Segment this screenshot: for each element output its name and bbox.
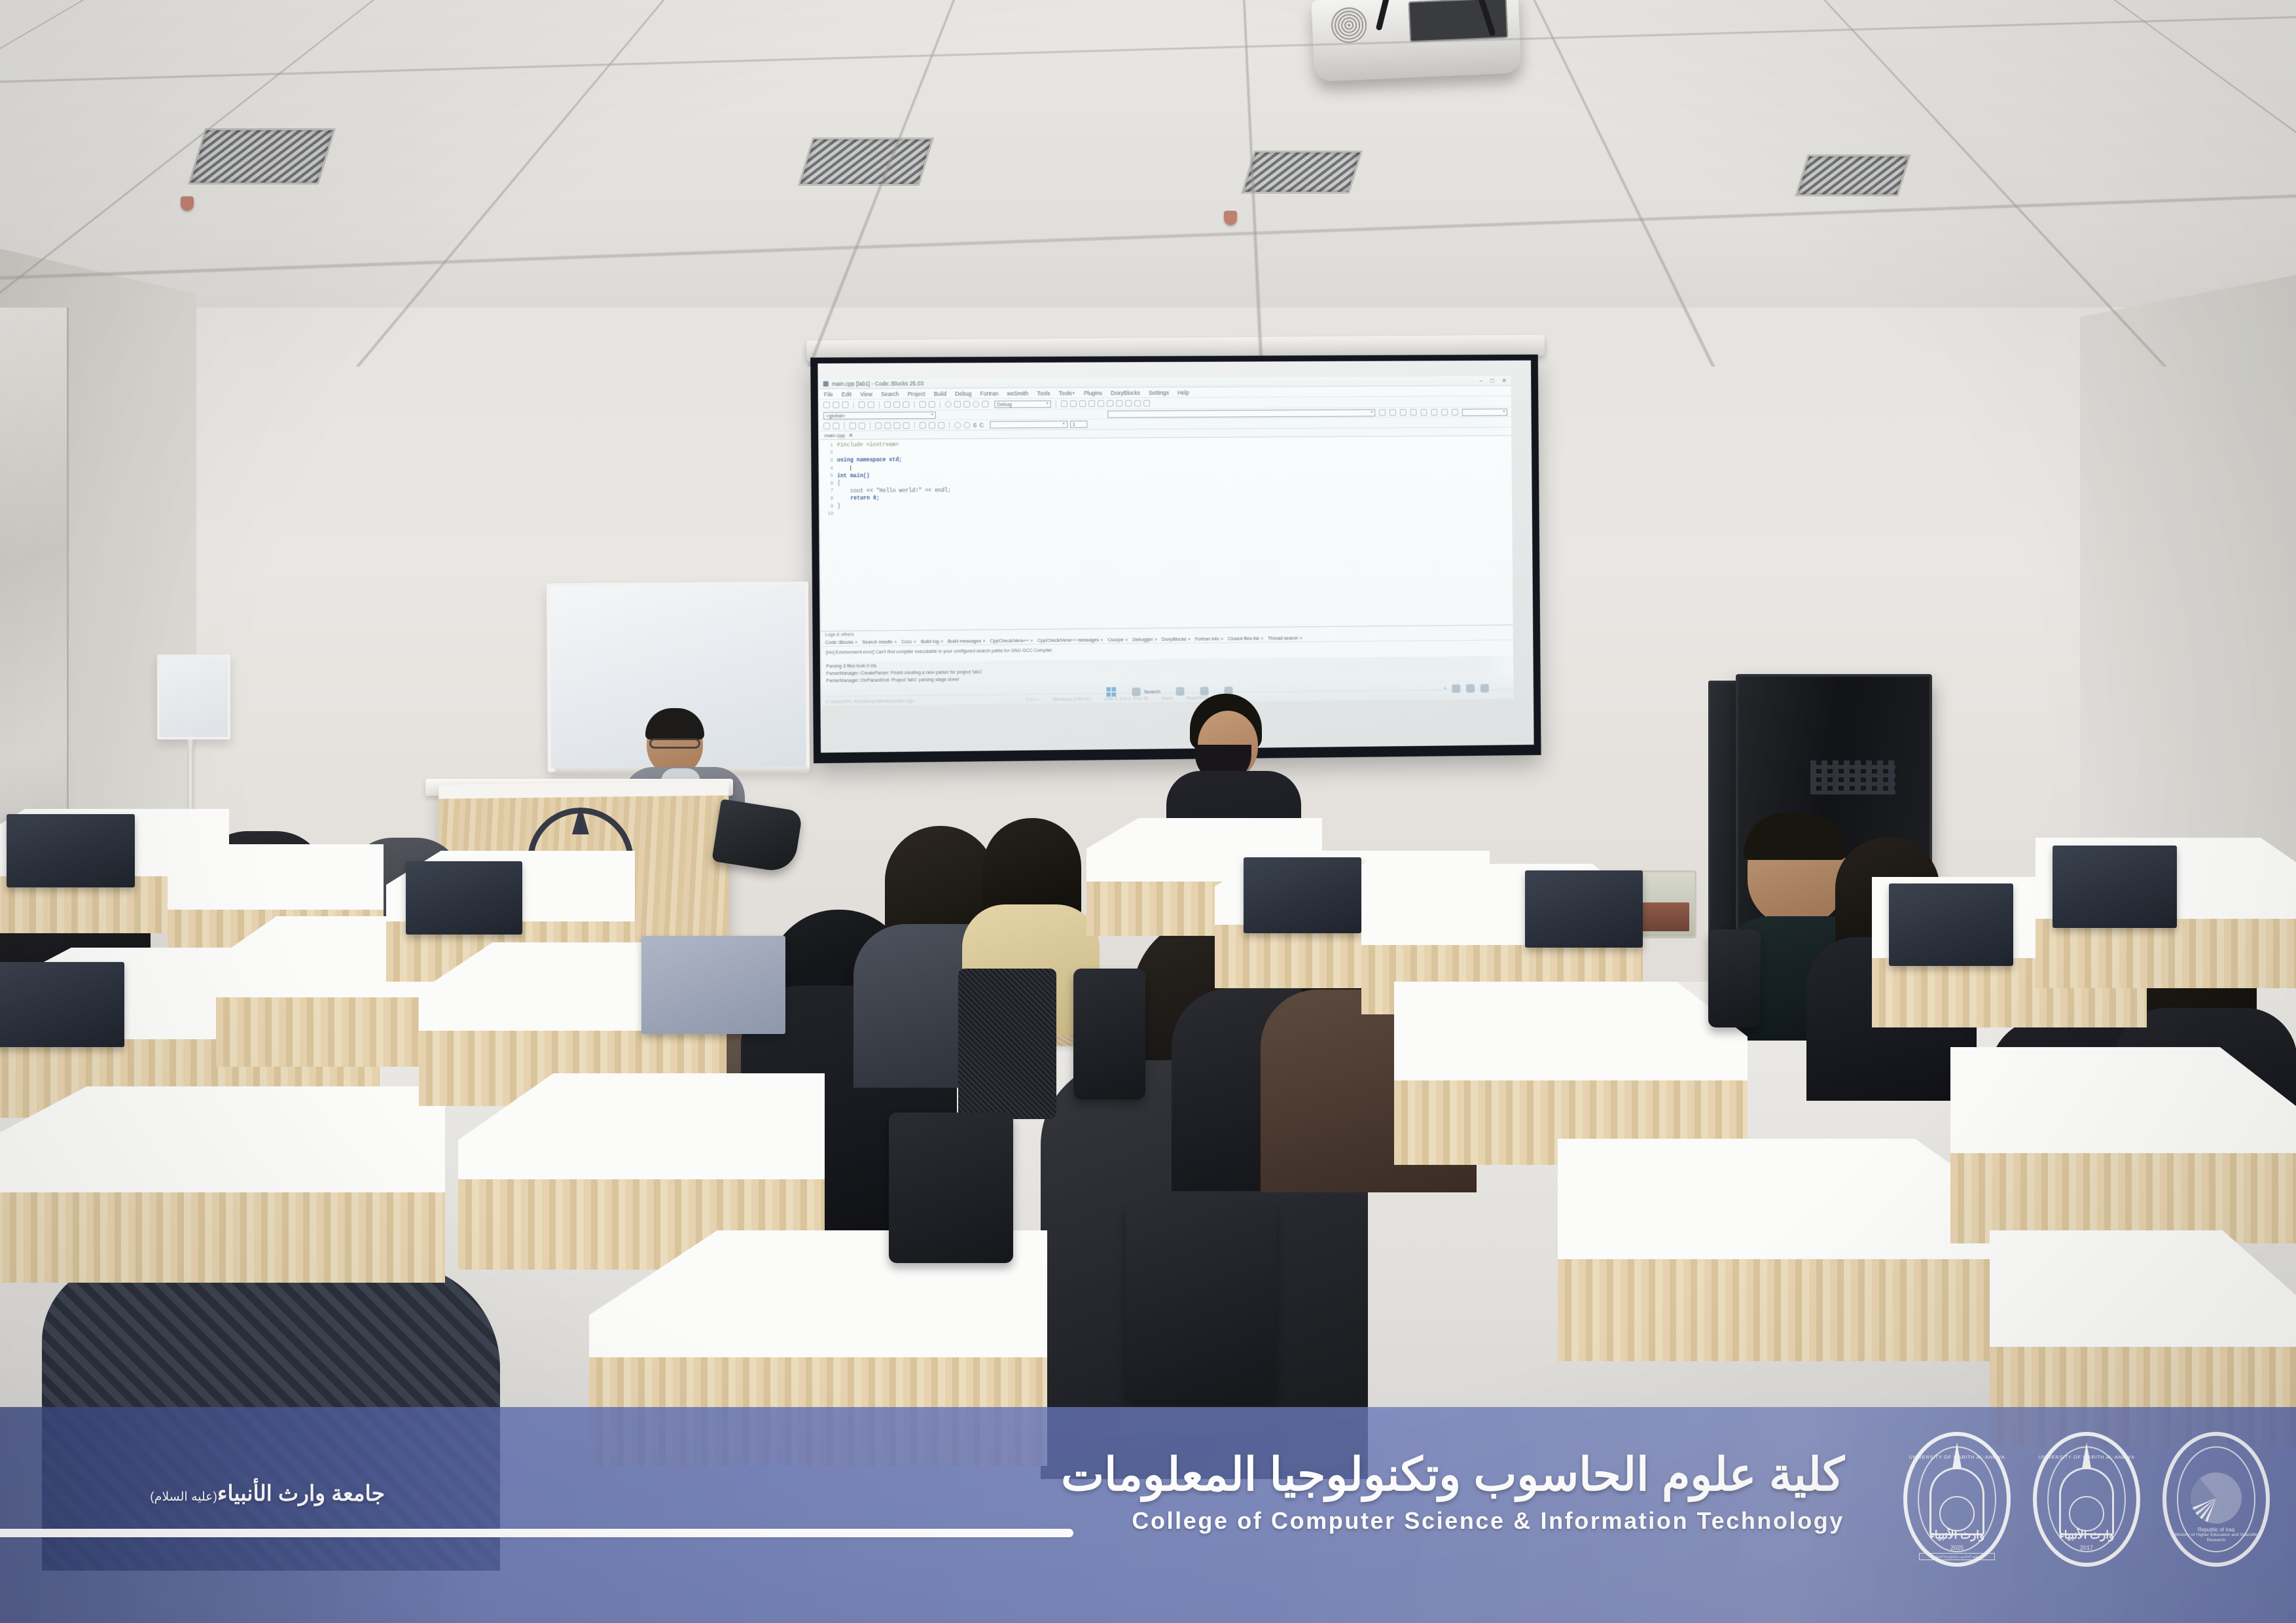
menu-item-edit[interactable]: Edit [842,391,852,397]
menu-item-debug[interactable]: Debug [955,390,972,397]
menu-item-search[interactable]: Search [881,391,899,397]
lab-desk-r3 [1558,1139,2016,1361]
function-select[interactable]: ▾ [1107,409,1375,418]
seal-2-year: 2017 [2037,1544,2136,1551]
window-controls[interactable]: – □ ✕ [1479,377,1507,384]
seal-1-ribbon: كلية علوم الحاسوب وتكنولوجيا المعلومات [1919,1553,1995,1560]
toolbar-separator-4 [940,401,941,408]
replace-icon[interactable] [929,401,935,408]
volume-icon[interactable] [1466,684,1475,692]
box-icon-3[interactable] [938,421,944,428]
nav-back-icon[interactable] [1379,409,1386,416]
line-number: 9 [820,504,837,509]
debug-step-into-icon[interactable] [1079,401,1086,407]
align-right-icon[interactable] [859,422,865,429]
log-tab[interactable]: Thread search✕ [1268,635,1303,641]
debug-windows-icon[interactable] [1134,400,1141,406]
ministry-country: Republic of Iraq [2166,1527,2266,1533]
podium-seal-nib-icon [572,808,589,834]
line-number: 3 [820,458,837,463]
windows-start-icon[interactable] [1106,687,1116,697]
hvac-vent-3 [1241,151,1363,194]
log-tab-label: Cscope [1107,637,1123,643]
paste-icon[interactable] [903,401,909,408]
log-tab-label: CppCheck/Vera++ messages [1037,637,1099,644]
code-text [837,465,851,472]
log-tab-close-icon[interactable]: ✕ [913,639,916,645]
build-and-run-icon[interactable] [963,401,970,408]
menu-item-settings[interactable]: Settings [1149,389,1169,396]
log-tab-label: Debugger [1132,637,1153,643]
log-tab[interactable]: CppCheck/Vera++✕ [990,637,1034,644]
seal-dome-icon [1939,1496,1975,1531]
line-number: 8 [820,496,837,501]
log-tab-close-icon[interactable]: ✕ [982,639,986,644]
toolbar2-separator-2 [870,422,870,429]
doxyblocks-s-icon[interactable]: S [973,421,977,428]
new-file-icon[interactable] [823,402,830,408]
chevron-up-icon[interactable]: ^ [1444,686,1446,692]
university-name-arabic: جامعة وارث الأنبياء(عليه السلام) [18,1480,385,1506]
log-tab-close-icon[interactable]: ✕ [1030,638,1033,643]
menu-item-build[interactable]: Build [934,390,946,397]
box-icon-1[interactable] [920,422,926,429]
clock-icon[interactable] [1480,684,1489,692]
office-chair-1 [958,969,1056,1119]
log-tab-label: Thread search [1268,635,1298,641]
debug-run-to-cursor-icon[interactable] [1107,400,1113,406]
code-text: return 0; [837,496,880,502]
line-number: 2 [819,450,836,455]
seal-1-base-arabic: وارث الأنبياء [1907,1529,2007,1542]
sprinkler-head [181,196,194,211]
college-name-arabic: كلية علوم الحاسوب وتكنولوجيا المعلومات [1061,1448,1844,1502]
log-tab-close-icon[interactable]: ✕ [855,639,858,645]
sprinkler-head-2 [1224,211,1237,225]
log-tab-label: Fortran info [1195,636,1219,642]
toolbar-separator-1 [853,401,853,408]
taskbar-search[interactable]: Search [1132,687,1160,696]
build-icon[interactable] [945,401,952,408]
align-left-icon[interactable] [850,422,856,429]
university-seal-main-icon: UNIVERSITY OF WARITH AL-ANBIYA وارث الأن… [2033,1432,2140,1567]
seal-1-year: 2025 [1907,1544,2007,1551]
log-tab-close-icon[interactable]: ✕ [941,639,944,644]
classroom-scene: main.cpp [lab1] - Code::Blocks 25.03 – □… [0,0,2296,1623]
zoom-level-value: 1 [1073,421,1075,428]
log-tab[interactable]: Build messages✕ [948,638,986,645]
bookmark-toggle-icon[interactable] [1400,409,1407,416]
log-tab-label: Closed files list [1228,635,1259,641]
rectangle-icon[interactable] [833,422,839,429]
build-target-value: Debug [997,401,1012,408]
ministry-name: Ministry of Higher Education and Scienti… [2170,1533,2262,1543]
find-icon[interactable] [919,401,925,408]
hvac-vent-1 [188,128,336,185]
debug-step-out-icon[interactable] [1088,401,1095,407]
box-icon-2[interactable] [929,422,935,429]
log-tab-label: Search results [862,639,892,645]
university-name-arabic-text: جامعة وارث الأنبياء [217,1481,385,1505]
text-caret [850,465,851,471]
log-tab[interactable]: Closed files list✕ [1228,635,1264,642]
bookmark-clear-icon[interactable] [1431,409,1438,416]
file-tab-close-icon[interactable]: ✕ [848,432,853,438]
ministry-sunburst-icon [2191,1472,2242,1524]
doxyblocks-c-icon[interactable]: C [979,421,984,428]
open-file-icon[interactable] [833,402,839,408]
save-icon[interactable] [842,402,848,408]
debug-info-icon[interactable] [1143,400,1150,406]
network-icon[interactable] [1452,685,1461,693]
toolbar-separator-3 [914,401,914,408]
log-tab-close-icon[interactable]: ✕ [1155,637,1158,642]
codeblocks-icon [823,382,829,387]
code-text: } [837,504,840,510]
lab-desk-r2 [1394,982,1748,1165]
log-tab[interactable]: Cccc✕ [901,639,917,645]
nav-forward-icon[interactable] [1390,409,1396,416]
abort-icon[interactable] [982,401,988,407]
log-tab[interactable]: Cscope✕ [1107,637,1128,643]
banner-divider [0,1529,1073,1537]
electrical-panel [1634,870,1696,938]
log-tab-close-icon[interactable]: ✕ [1125,637,1128,643]
run-icon[interactable] [954,401,961,408]
redo-icon[interactable] [868,401,874,408]
bookmark-prev-icon[interactable] [1410,409,1417,416]
monitor-r5 [2053,846,2177,928]
code-text: using namespace std; [837,457,902,464]
scope-value: <global> [826,412,846,419]
log-tab[interactable]: CppCheck/Vera++ messages✕ [1037,637,1103,643]
file-tab-main-cpp[interactable]: main.cpp [824,432,845,438]
line-number: 1 [819,443,836,448]
menu-item-tools-plus[interactable]: Tools+ [1058,389,1075,396]
toolbar2-separator-3 [914,421,915,429]
menu-item-plugins[interactable]: Plugins [1084,389,1102,396]
doxyblocks-select[interactable]: ▾ [990,421,1067,429]
speaker-hair [645,708,704,740]
snap-icon[interactable] [884,422,891,429]
log-tab-label: CppCheck/Vera++ [990,638,1029,645]
hvac-vent-4 [1795,154,1911,196]
university-honorific-arabic: (عليه السلام) [150,1490,217,1504]
bookmark-next-icon[interactable] [1421,409,1427,416]
institutional-seals: UNIVERSITY OF WARITH AL-ANBIYA وارث الأن… [1903,1432,2270,1567]
log-tab[interactable]: Fortran info✕ [1195,636,1224,642]
office-chair-4 [1126,1204,1276,1400]
zoom-level-select[interactable]: 1 [1070,421,1087,428]
line-number: 10 [820,512,837,517]
monitor-c6 [1244,857,1361,933]
ministry-seal-icon: Republic of Iraq Ministry of Higher Educ… [2162,1432,2270,1567]
hvac-vent-2 [798,137,935,186]
symbol-filter-select[interactable]: ▾ [1462,408,1507,416]
seal-1-ring-text: UNIVERSITY OF WARITH AL-ANBIYA [1909,1454,2005,1460]
log-tab-close-icon[interactable]: ✕ [1221,636,1224,641]
lab-desk-l5 [0,1086,445,1283]
layout-icon[interactable] [893,422,900,429]
toolbar-separator-2 [879,401,880,408]
monitor-c2 [641,936,785,1034]
fill-icon[interactable] [903,422,909,429]
monitor-c1 [406,861,522,935]
menu-item-project[interactable]: Project [908,390,925,397]
log-tab[interactable]: Build log✕ [921,639,944,645]
monitor-r1 [1525,870,1643,948]
side-whiteboard [157,654,230,740]
grid-icon[interactable] [875,422,882,429]
pointer-icon[interactable] [823,422,830,429]
menu-item-tools[interactable]: Tools [1037,389,1050,396]
seal-2-base-arabic: وارث الأنبياء [2037,1529,2136,1542]
debug-next-instruction-icon[interactable] [1098,401,1104,407]
maximize-icon[interactable]: □ [1490,377,1494,384]
debug-break-icon[interactable] [1116,400,1122,406]
log-tab[interactable]: Search results✕ [862,639,897,645]
line-number: 7 [820,489,837,494]
toolbar2-separator-1 [844,422,845,429]
menu-item-file[interactable]: File [824,391,833,397]
ide-window-title: main.cpp [lab1] - Code::Blocks 25.03 [832,380,924,387]
line-number: 4 [820,466,837,471]
debug-continue-icon[interactable] [1061,401,1067,407]
log-tab[interactable]: DoxyBlocks✕ [1162,636,1191,642]
log-tab[interactable]: Debugger✕ [1132,637,1158,643]
university-seal-college-icon: UNIVERSITY OF WARITH AL-ANBIYA وارث الأن… [1903,1432,2011,1567]
close-icon[interactable]: ✕ [1502,377,1508,384]
screenshot-root: main.cpp [lab1] - Code::Blocks 25.03 – □… [0,0,2296,1623]
code-text: #include <iostream> [837,442,899,449]
college-name-english: College of Computer Science & Informatio… [1061,1507,1844,1535]
menu-item-doxyblocks[interactable]: DoxyBlocks [1111,389,1140,396]
toolbar-separator-5 [1056,400,1056,407]
menu-item-view[interactable]: View [860,391,872,397]
scope-select[interactable]: <global>▾ [823,411,936,419]
log-tab-close-icon[interactable]: ✕ [1261,636,1264,641]
log-tab[interactable]: Code::Blocks✕ [825,639,858,646]
college-name-block: كلية علوم الحاسوب وتكنولوجيا المعلومات C… [1061,1448,1844,1535]
code-text: cout << "Hello world!" << endl; [837,488,951,494]
log-tab-close-icon[interactable]: ✕ [1188,637,1191,642]
projected-image: main.cpp [lab1] - Code::Blocks 25.03 – □… [819,376,1514,706]
monitor-l1 [7,814,135,887]
zoom-out-icon[interactable] [963,421,970,428]
debug-stop-icon[interactable] [1125,400,1132,406]
log-tab-label: Build log [921,639,939,645]
minimize-icon[interactable]: – [1479,377,1483,384]
monitor-l3 [0,962,124,1047]
undo-icon[interactable] [859,401,865,408]
search-icon [1132,688,1140,696]
ceiling-projector [1311,0,1521,82]
seal-2-book-icon [2069,1496,2104,1531]
system-tray[interactable]: ^ [1444,684,1489,693]
log-tab-label: Cccc [901,639,912,645]
office-chair-3 [1073,969,1145,1099]
fortran-workspace-icon[interactable] [1452,409,1458,416]
build-target-select[interactable]: Debug▾ [994,400,1051,407]
office-chair-5 [1708,929,1761,1027]
lab-desk-r6 [1950,1047,2296,1243]
log-tab-close-icon[interactable]: ✕ [894,639,897,645]
speaker-glasses [649,738,700,749]
log-tab-label: Build messages [948,638,981,645]
office-chair-2 [889,1113,1013,1263]
zoom-in-icon[interactable] [954,421,961,428]
codeblocks-ide: main.cpp [lab1] - Code::Blocks 25.03 – □… [819,376,1514,706]
toolbar2-separator-4 [949,421,950,429]
monitor-r4 [1889,883,2013,966]
copy-icon[interactable] [893,401,900,408]
rebuild-icon[interactable] [973,401,979,408]
taskbar-search-label: Search [1144,688,1160,694]
bottom-banner: جامعة وارث الأنبياء(عليه السلام) كلية عل… [0,1407,2296,1623]
code-text: int main() [837,473,870,479]
seal-2-ring-text: UNIVERSITY OF WARITH AL-ANBIYA [2038,1454,2134,1460]
menu-item-help[interactable]: Help [1177,389,1189,395]
log-tab-close-icon[interactable]: ✕ [1299,635,1302,641]
log-tab-label: DoxyBlocks [1162,636,1187,642]
log-tab-close-icon[interactable]: ✕ [1100,637,1103,643]
code-text: { [837,481,840,487]
log-tab-label: Code::Blocks [825,639,853,645]
cut-icon[interactable] [884,401,891,408]
bag-on-podium [711,799,802,874]
line-number: 5 [820,473,837,478]
menu-item-fortran[interactable]: Fortran [980,390,999,397]
menu-item-wxsmith[interactable]: wxSmith [1007,390,1029,397]
debug-next-line-icon[interactable] [1070,401,1077,407]
breakpoint-icon[interactable] [1441,409,1448,416]
line-number: 6 [820,481,837,486]
